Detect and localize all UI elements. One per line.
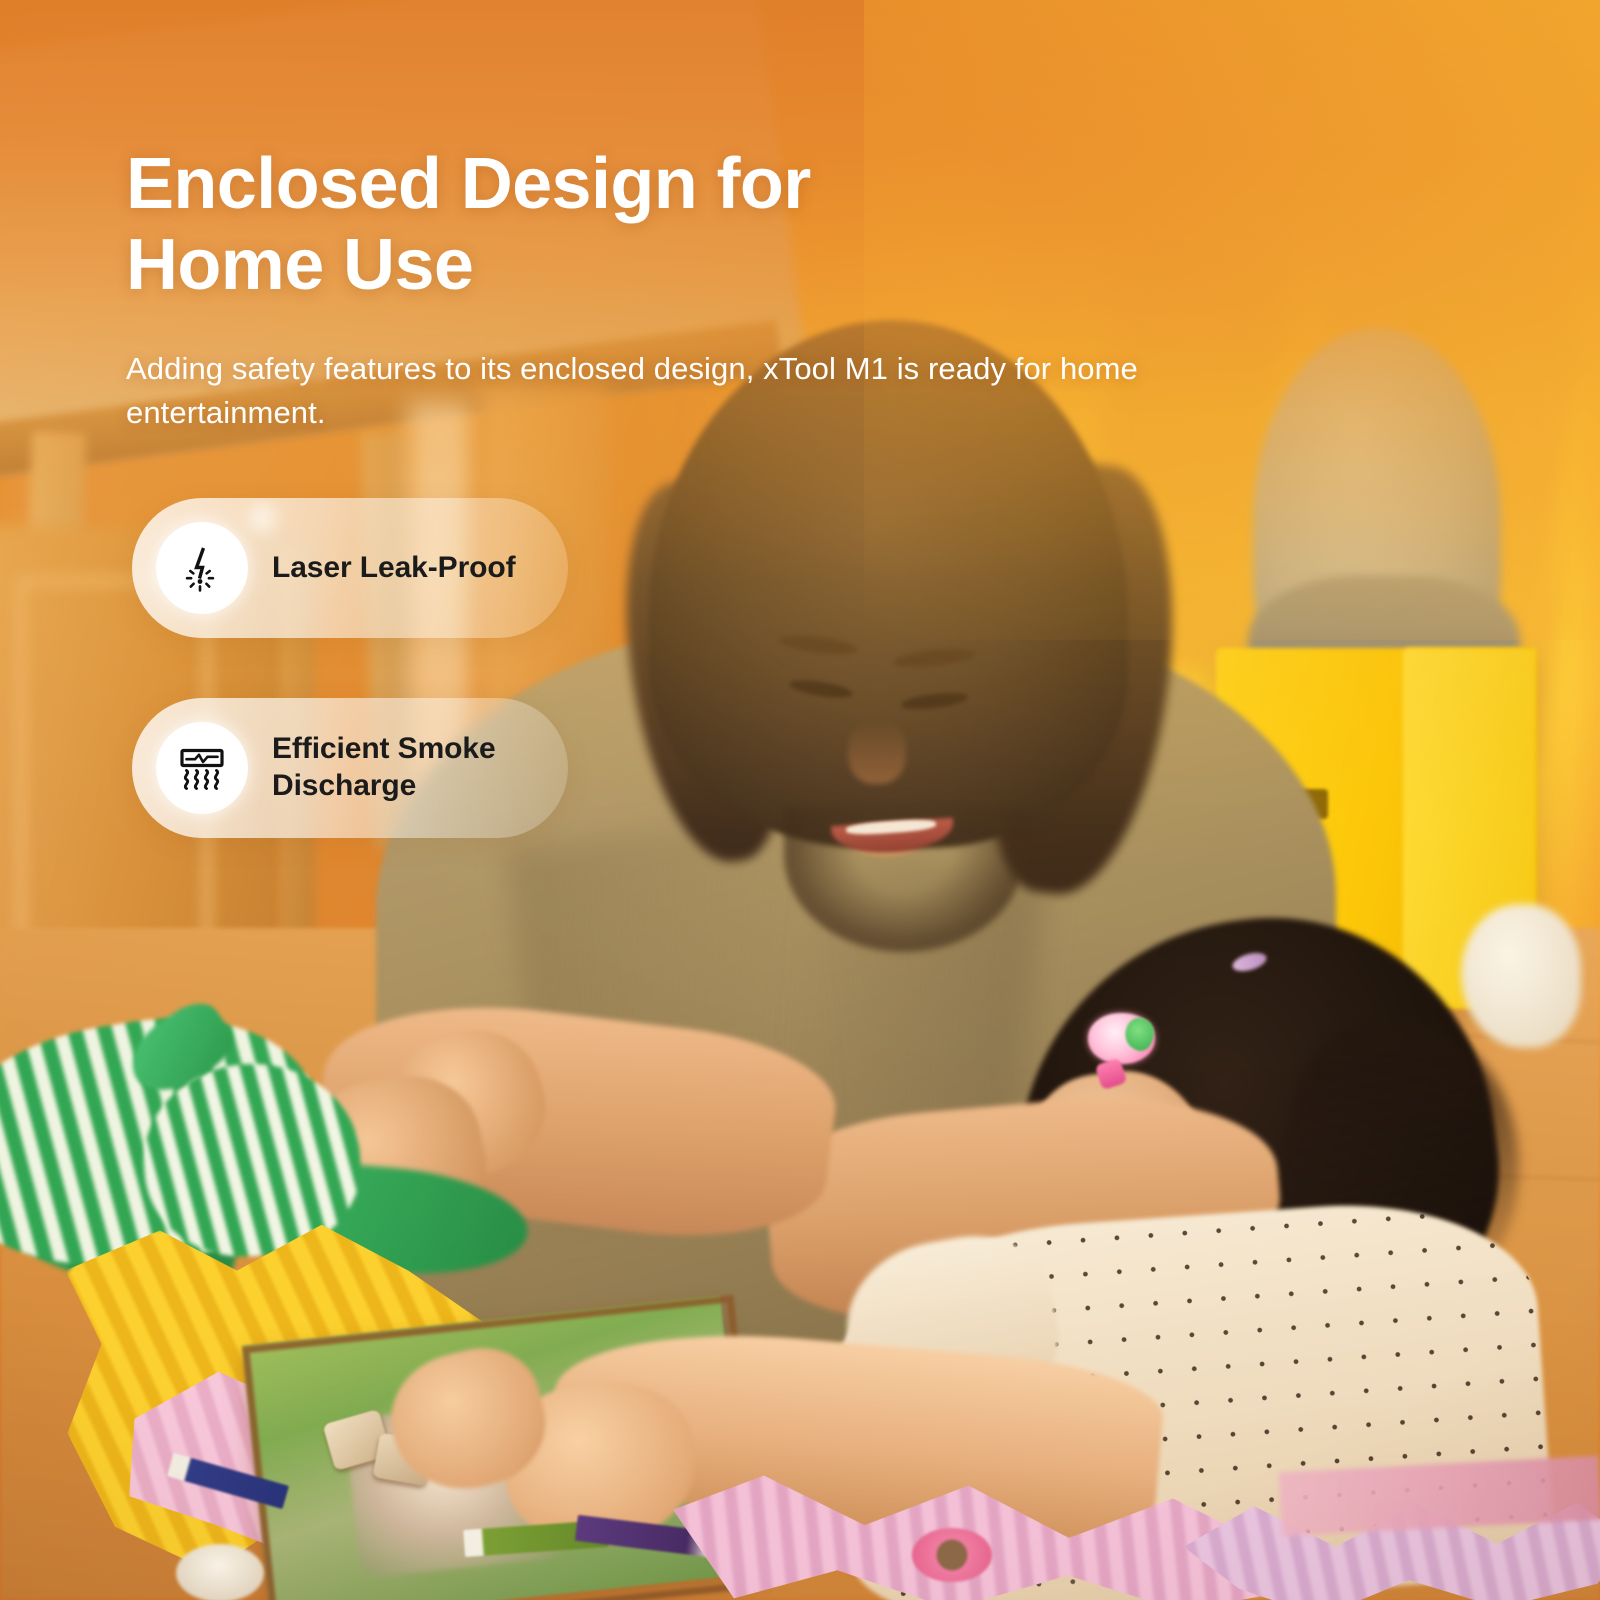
- feature-pill-efficient-smoke-discharge[interactable]: Efficient Smoke Discharge: [132, 698, 568, 838]
- white-plush-toy: [1461, 904, 1581, 1048]
- feature-pill-laser-leak-proof[interactable]: Laser Leak-Proof: [132, 498, 568, 638]
- man-nose: [848, 720, 906, 784]
- pink-washi-tape: [912, 1528, 992, 1582]
- promo-banner: Enclosed Design for Home Use Adding safe…: [0, 0, 1600, 1600]
- page-subtitle: Adding safety features to its enclosed d…: [126, 347, 1216, 435]
- smoke-vent-icon: [156, 722, 248, 814]
- page-title: Enclosed Design for Home Use: [126, 144, 1126, 305]
- white-cup: [176, 1544, 264, 1600]
- feature-pill-label: Efficient Smoke Discharge: [272, 731, 568, 804]
- laser-beam-icon: [156, 522, 248, 614]
- feature-pill-label: Laser Leak-Proof: [272, 550, 515, 587]
